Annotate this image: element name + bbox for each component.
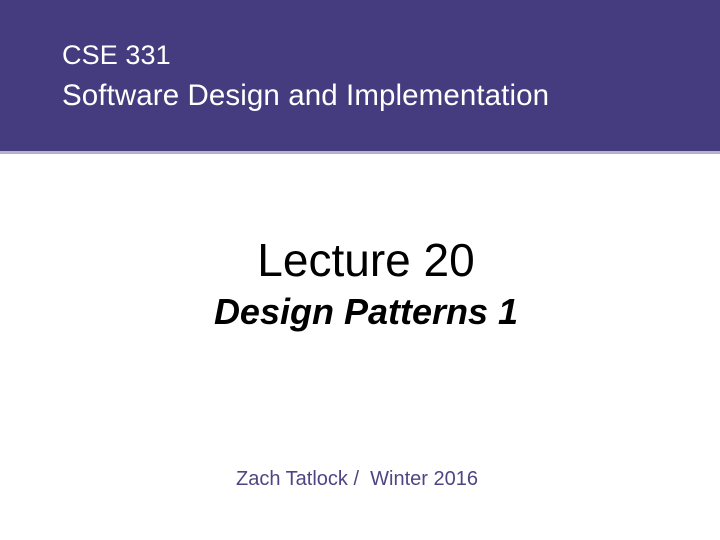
slide-header-text: CSE 331 Software Design and Implementati… <box>62 38 702 115</box>
presentation-slide: CSE 331 Software Design and Implementati… <box>0 0 720 540</box>
slide-byline: Zach Tatlock / Winter 2016 <box>0 466 714 492</box>
course-code: CSE 331 <box>62 38 702 72</box>
course-name: Software Design and Implementation <box>62 77 702 115</box>
header-divider-rule <box>0 151 720 154</box>
lecture-subtitle: Design Patterns 1 <box>0 290 720 334</box>
lecture-title: Lecture 20 <box>0 234 720 286</box>
slide-title-block: Lecture 20 Design Patterns 1 <box>0 234 720 334</box>
